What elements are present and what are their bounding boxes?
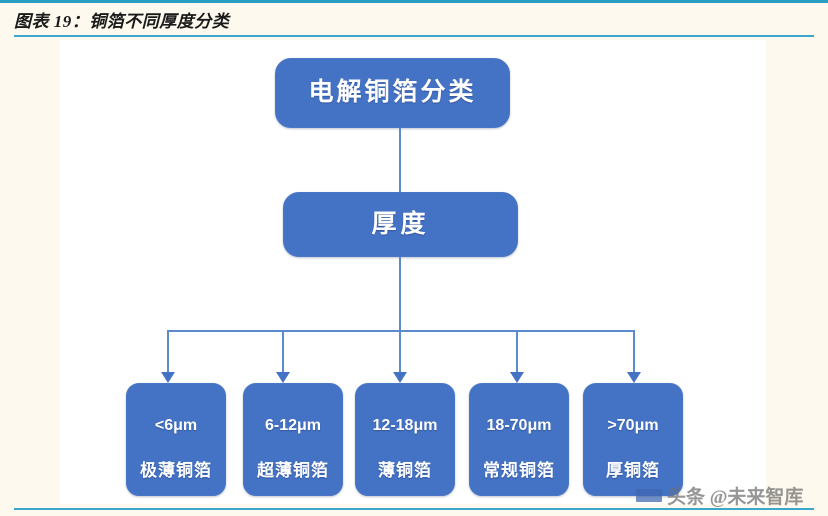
connector-drop-leaf-5 (633, 330, 635, 374)
leaf-thickness-range: 12-18μm (364, 416, 446, 436)
leaf-category-name: 常规铜箔 (478, 460, 560, 482)
node-leaf-12-18um[interactable]: 12-18μm 薄铜箔 (355, 383, 455, 496)
leaf-label: 18-70μm 常规铜箔 (478, 394, 560, 503)
connector-drop-leaf-2 (282, 330, 284, 374)
figure-title: 图表 19：铜箔不同厚度分类 (14, 7, 229, 32)
connector-drop-leaf-3 (399, 330, 401, 374)
node-leaf-18-70um[interactable]: 18-70μm 常规铜箔 (469, 383, 569, 496)
node-leaf-ultra-thin-under-6um[interactable]: <6μm 极薄铜箔 (126, 383, 226, 496)
leaf-label: <6μm 极薄铜箔 (135, 394, 217, 503)
leaf-thickness-range: 6-12μm (252, 416, 334, 436)
leaf-category-name: 极薄铜箔 (135, 460, 217, 482)
title-divider-rule (14, 35, 814, 37)
leaf-category-name: 超薄铜箔 (252, 460, 334, 482)
leaf-thickness-range: 18-70μm (478, 416, 560, 436)
node-thickness-label: 厚度 (371, 211, 429, 239)
leaf-thickness-range: >70μm (592, 416, 674, 436)
arrowhead-icon-leaf-5 (627, 372, 641, 383)
leaf-label: 12-18μm 薄铜箔 (364, 394, 446, 503)
connector-drop-leaf-1 (167, 330, 169, 374)
leaf-label: 6-12μm 超薄铜箔 (252, 394, 334, 503)
connector-root-to-thickness (399, 128, 401, 192)
arrowhead-icon-leaf-2 (276, 372, 290, 383)
node-leaf-6-12um[interactable]: 6-12μm 超薄铜箔 (243, 383, 343, 496)
connector-drop-leaf-4 (516, 330, 518, 374)
bottom-accent-rule (14, 508, 814, 510)
figure-screenshot: 图表 19：铜箔不同厚度分类 电解铜箔分类 厚度 <6μm 极薄铜箔 6-12μ… (0, 0, 828, 516)
connector-thickness-to-bus (399, 257, 401, 331)
node-root-label: 电解铜箔分类 (308, 79, 476, 107)
watermark: 头条 @未来智库 (636, 482, 803, 509)
watermark-logo-icon (636, 489, 662, 502)
node-thickness[interactable]: 厚度 (283, 192, 518, 257)
figure-title-bar: 图表 19：铜箔不同厚度分类 (14, 6, 814, 32)
arrowhead-icon-leaf-4 (510, 372, 524, 383)
top-accent-rule (0, 0, 828, 3)
node-electrolytic-copper-foil-classification[interactable]: 电解铜箔分类 (275, 58, 510, 128)
watermark-text: 头条 @未来智库 (667, 482, 803, 509)
leaf-thickness-range: <6μm (135, 416, 217, 436)
leaf-category-name: 厚铜箔 (592, 460, 674, 482)
arrowhead-icon-leaf-1 (161, 372, 175, 383)
arrowhead-icon-leaf-3 (393, 372, 407, 383)
node-leaf-over-70um[interactable]: >70μm 厚铜箔 (583, 383, 683, 496)
leaf-category-name: 薄铜箔 (364, 460, 446, 482)
